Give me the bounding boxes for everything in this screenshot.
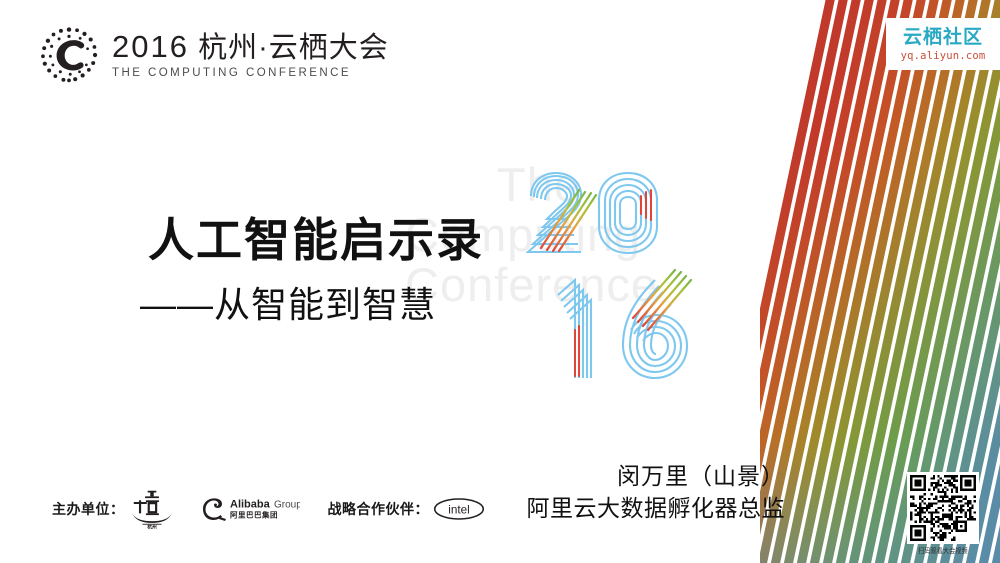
intel-logo-icon: intel	[433, 497, 485, 521]
yunqi-community-badge[interactable]: 云栖社区 yq.aliyun.com	[886, 18, 1000, 70]
computing-conference-c-mark-icon	[38, 24, 100, 86]
qr-code-block[interactable]: 扫码观看大会视频	[904, 472, 982, 555]
alibaba-group-logo-icon: Alibaba Group 阿里巴巴集团	[200, 495, 300, 523]
title-block: 人工智能启示录 ——从智能到智慧	[148, 214, 568, 326]
community-url: yq.aliyun.com	[901, 50, 986, 62]
conference-english-line: THE COMPUTING CONFERENCE	[112, 67, 389, 79]
intel-wordmark: intel	[448, 503, 469, 516]
conference-title-line: 2016 杭州·云栖大会	[112, 31, 389, 64]
host-label: 主办单位：	[52, 499, 125, 519]
speaker-name: 闵万里（山景）	[527, 462, 786, 492]
page-subtitle: ——从智能到智慧	[140, 283, 568, 326]
speaker-block: 闵万里（山景） 阿里云大数据孵化器总监	[527, 462, 786, 524]
community-name: 云栖社区	[903, 28, 983, 49]
speaker-role: 阿里云大数据孵化器总监	[527, 494, 786, 524]
ghost-text-line-1: The	[490, 160, 820, 210]
slide-canvas: 2016 杭州·云栖大会 THE COMPUTING CONFERENCE 云栖…	[0, 0, 1000, 563]
stripe	[995, 0, 1000, 563]
strategic-partner-label: 战略合作伙伴：	[328, 499, 430, 519]
qr-code-caption: 扫码观看大会视频	[918, 546, 968, 556]
hangzhou-city-logo-icon: 杭州	[130, 489, 174, 529]
conference-wordmark: 2016 杭州·云栖大会 THE COMPUTING CONFERENCE	[112, 31, 389, 80]
alibaba-wordmark: Alibaba	[230, 499, 271, 511]
conference-logo: 2016 杭州·云栖大会 THE COMPUTING CONFERENCE	[38, 24, 389, 86]
alibaba-chinese-name: 阿里巴巴集团	[230, 510, 278, 520]
conference-city-line: 杭州·云栖大会	[198, 32, 389, 64]
stripe	[982, 0, 1000, 563]
page-title: 人工智能启示录	[148, 214, 568, 267]
conference-year: 2016	[112, 29, 189, 64]
sponsor-row: 主办单位： 杭州 Alibaba Group	[52, 489, 485, 529]
alibaba-group-word: Group	[274, 500, 300, 511]
qr-code-icon[interactable]	[907, 472, 979, 544]
